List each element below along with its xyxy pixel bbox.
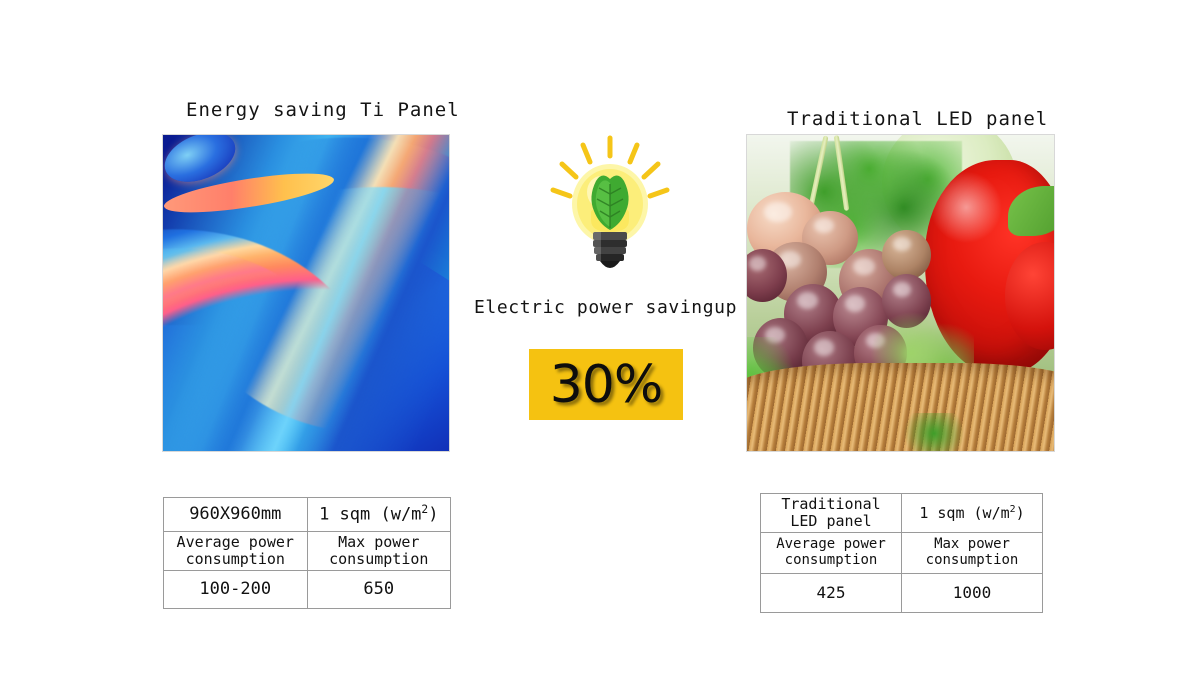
right-table-max-value: 1000	[902, 574, 1043, 613]
right-table-size-cell: Traditional LED panel	[761, 494, 902, 533]
left-table-max-label: Max power consumption	[307, 532, 451, 571]
energy-saving-spec-table: 960X960mm 1 sqm (w/m2) Average power con…	[163, 497, 451, 609]
right-table-unit-close: )	[1016, 504, 1025, 522]
right-panel-title: Traditional LED panel	[787, 108, 1048, 130]
table-row: Average power consumption Max power cons…	[761, 533, 1043, 574]
table-row: 425 1000	[761, 574, 1043, 613]
right-table-unit-cell: 1 sqm (w/m2)	[902, 494, 1043, 533]
left-panel-title: Energy saving Ti Panel	[186, 99, 460, 121]
left-table-average-label: Average power consumption	[164, 532, 308, 571]
produce-parsley-bottom	[894, 413, 974, 452]
right-table-max-label: Max power consumption	[902, 533, 1043, 574]
left-table-unit-text: 1 sqm (w/m	[319, 505, 421, 525]
left-table-average-value: 100-200	[164, 571, 308, 609]
savings-percentage-value: 30%	[550, 359, 663, 411]
right-table-unit-text: 1 sqm (w/m	[919, 504, 1009, 522]
left-table-unit-close: )	[428, 505, 438, 525]
right-table-average-value: 425	[761, 574, 902, 613]
energy-saving-panel-image	[162, 134, 450, 452]
eco-light-bulb-icon	[543, 132, 677, 276]
table-row: Average power consumption Max power cons…	[164, 532, 451, 571]
traditional-led-spec-table: Traditional LED panel 1 sqm (w/m2) Avera…	[760, 493, 1043, 613]
table-row: 100-200 650	[164, 571, 451, 609]
left-table-size-cell: 960X960mm	[164, 498, 308, 532]
produce-grape	[882, 230, 931, 281]
left-table-unit-cell: 1 sqm (w/m2)	[307, 498, 451, 532]
savings-caption: Electric power savingup to	[474, 297, 771, 318]
table-row: 960X960mm 1 sqm (w/m2)	[164, 498, 451, 532]
right-table-average-label: Average power consumption	[761, 533, 902, 574]
left-table-max-value: 650	[307, 571, 451, 609]
savings-badge: 30%	[529, 349, 683, 420]
traditional-led-panel-image	[746, 134, 1055, 452]
table-row: Traditional LED panel 1 sqm (w/m2)	[761, 494, 1043, 533]
